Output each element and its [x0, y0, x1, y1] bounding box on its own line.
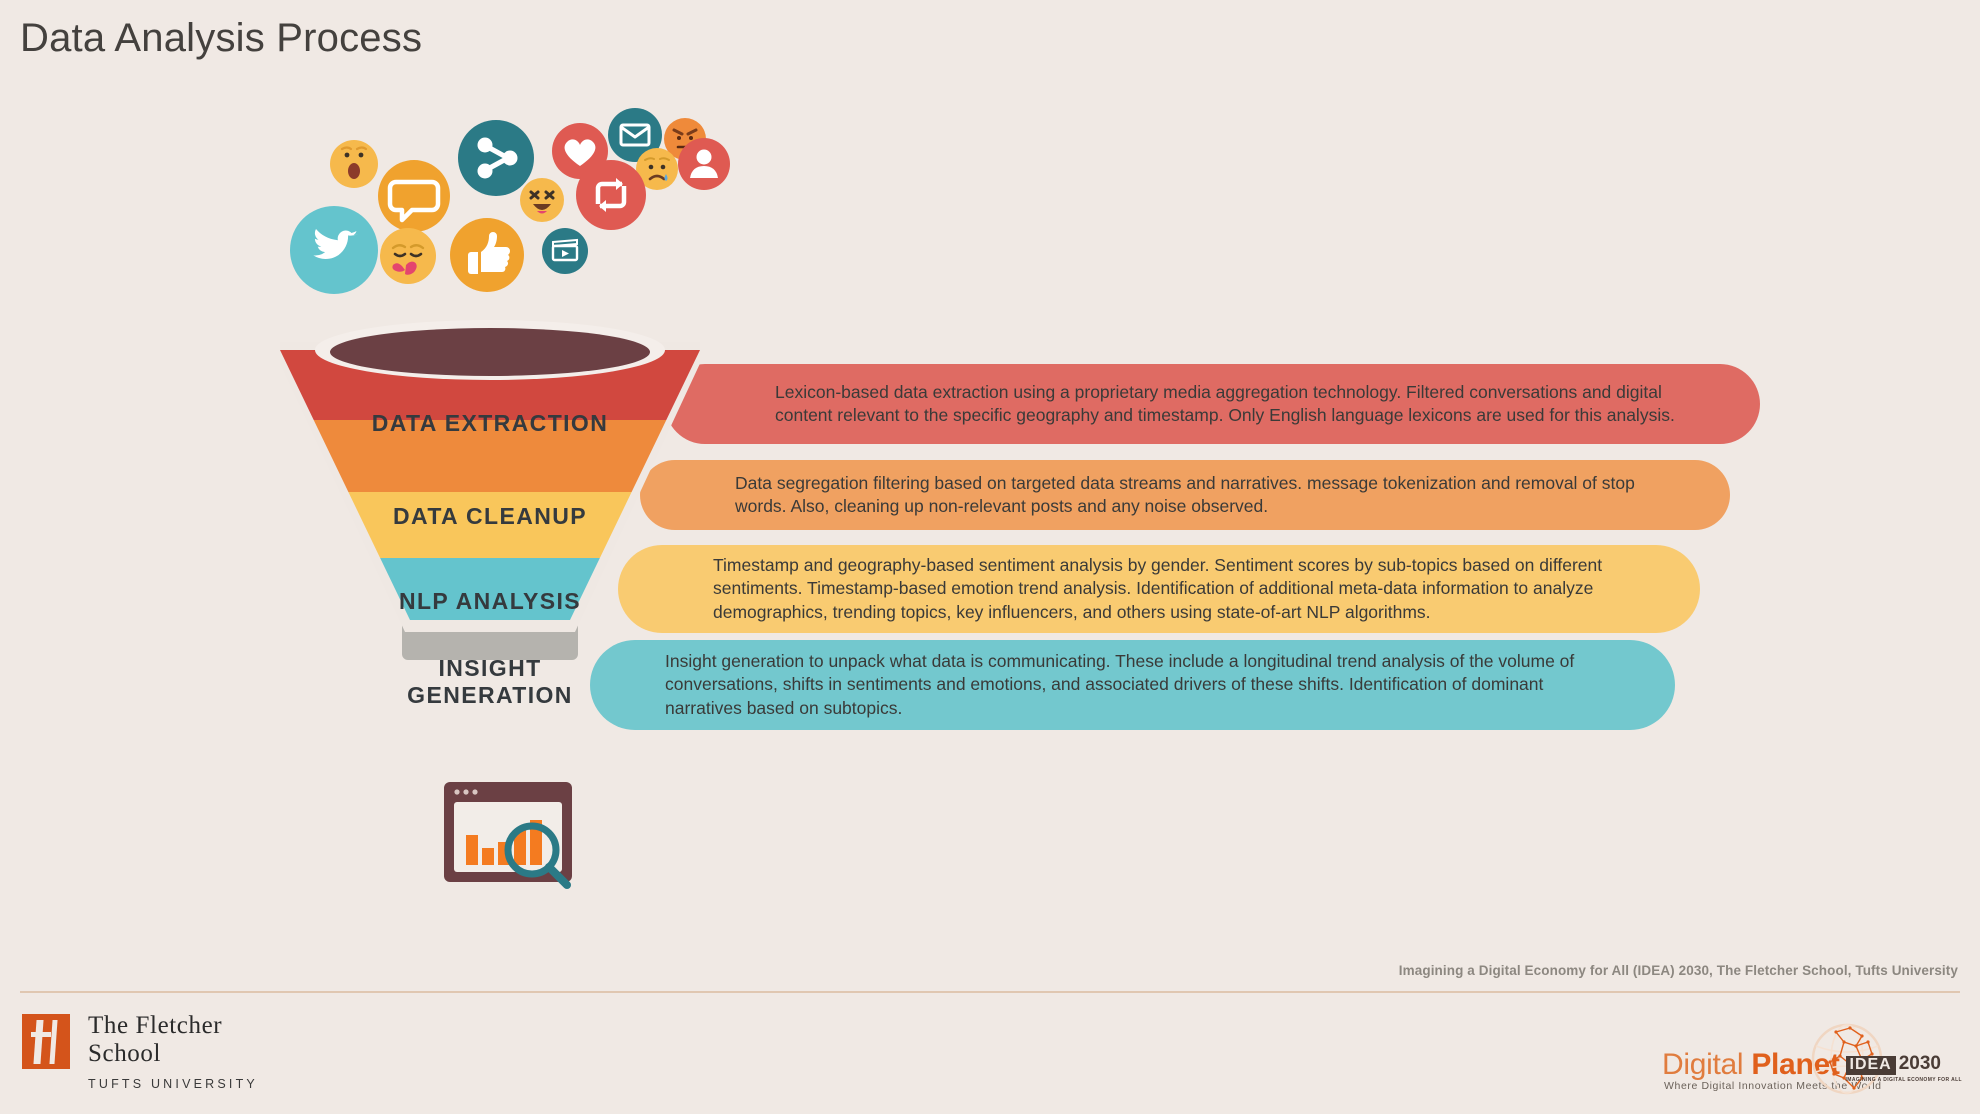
fletcher-line-1: The Fletcher [88, 1012, 258, 1040]
description-text: Data segregation filtering based on targ… [640, 472, 1730, 518]
funnel-band-nlp-analysis [280, 492, 700, 558]
bar-chart-magnifier-icon [440, 778, 600, 913]
description-pill-data-extraction: Lexicon-based data extraction using a pr… [665, 364, 1760, 444]
funnel-diagram: DATA EXTRACTION DATA CLEANUP NLP ANALYSI… [280, 320, 700, 820]
surprised-emoji-icon [330, 140, 378, 188]
idea-2030-badge: IDEA 2030 IMAGINING A DIGITAL ECONOMY FO… [1846, 1054, 1963, 1083]
idea-year: 2030 [1899, 1054, 1941, 1073]
digital-planet-logo: Digital Planet Where Digital Innovation … [1662, 1020, 1962, 1102]
idea-acronym: IDEA [1846, 1056, 1896, 1075]
description-pill-data-cleanup: Data segregation filtering based on targ… [640, 460, 1730, 530]
twitter-bird-icon [290, 206, 378, 294]
footer-divider [20, 991, 1960, 993]
speech-bubble-icon [378, 160, 450, 232]
description-text: Lexicon-based data extraction using a pr… [665, 381, 1760, 427]
video-clapper-icon [542, 228, 588, 274]
description-pill-insight-generation: Insight generation to unpack what data i… [590, 640, 1675, 730]
fletcher-mark-icon [22, 1014, 70, 1069]
laughing-emoji-icon [520, 178, 564, 222]
user-icon [678, 138, 730, 190]
idea-subtitle: IMAGINING A DIGITAL ECONOMY FOR ALL [1846, 1077, 1963, 1083]
funnel-shape [280, 320, 700, 820]
retweet-icon [576, 160, 646, 230]
digital-planet-word-light: Digital [1662, 1048, 1751, 1081]
fletcher-subtitle: TUFTS UNIVERSITY [88, 1077, 258, 1091]
attribution-text: Imagining a Digital Economy for All (IDE… [1399, 963, 1958, 978]
fletcher-line-2: School [88, 1040, 258, 1068]
description-text: Timestamp and geography-based sentiment … [618, 554, 1700, 623]
page-title: Data Analysis Process [20, 16, 422, 61]
fletcher-school-logo: The Fletcher School TUFTS UNIVERSITY [22, 1012, 258, 1091]
social-icon-cluster [330, 120, 950, 350]
kiss-emoji-icon [380, 228, 436, 284]
description-pill-nlp-analysis: Timestamp and geography-based sentiment … [618, 545, 1700, 633]
thumbs-up-icon [450, 218, 524, 292]
description-text: Insight generation to unpack what data i… [590, 650, 1675, 719]
